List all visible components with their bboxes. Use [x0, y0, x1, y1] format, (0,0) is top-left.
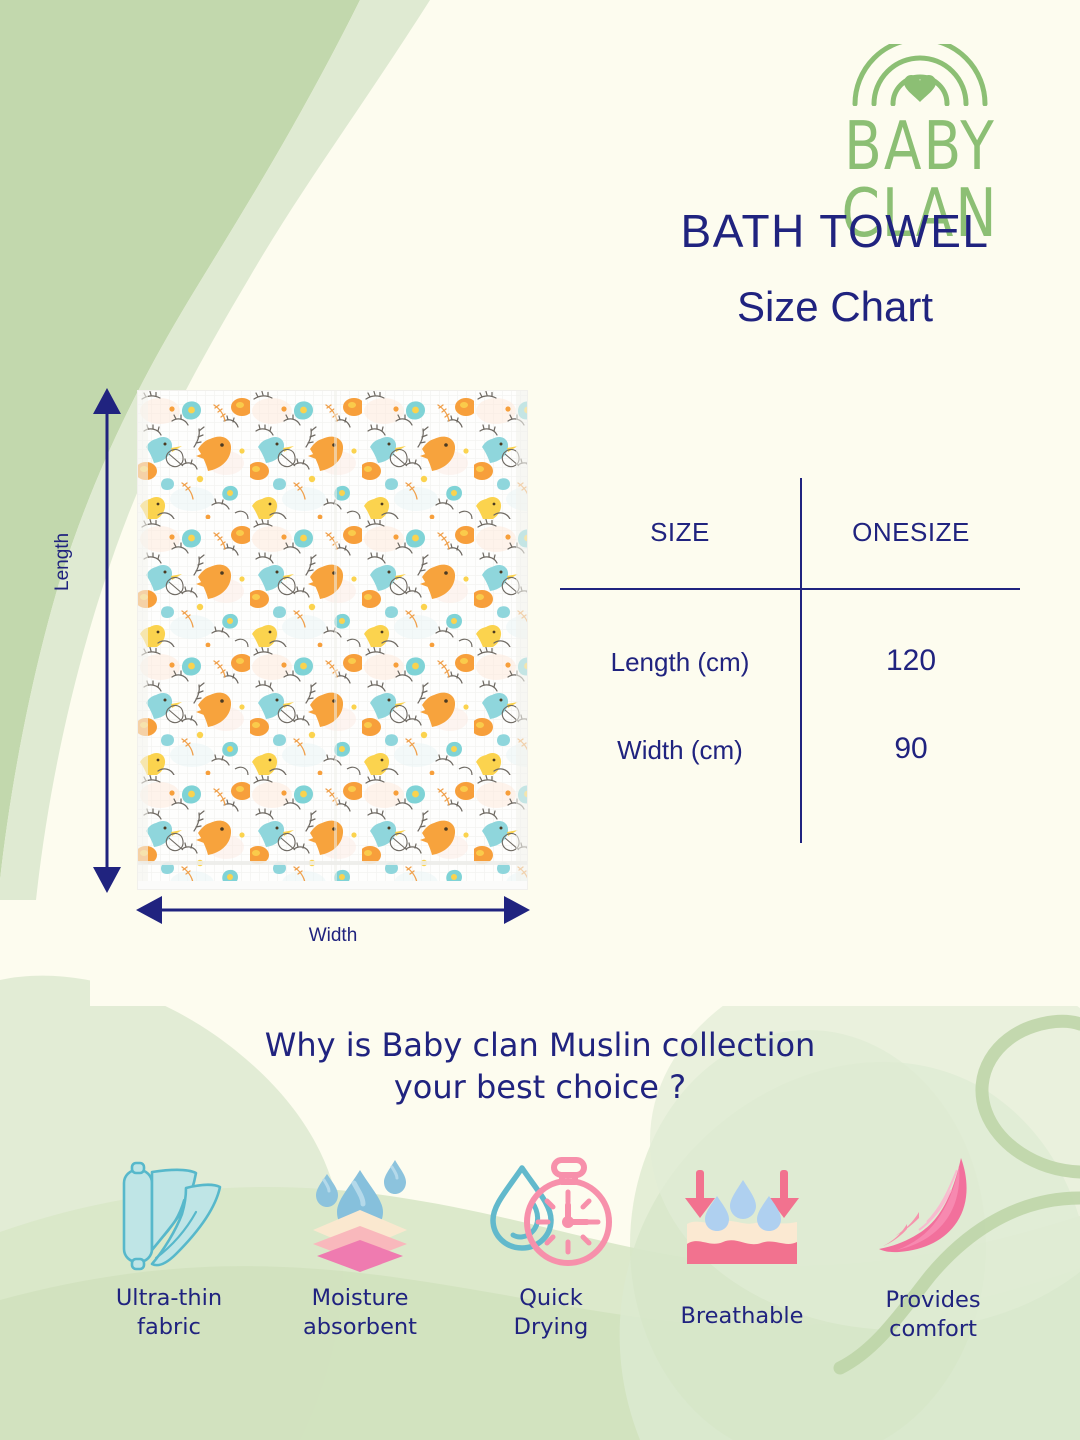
- feature-quick-drying: Quick Drying: [458, 1152, 644, 1342]
- feature-moisture-absorbent: Moisture absorbent: [267, 1152, 453, 1342]
- breathable-fabric-icon: [679, 1152, 805, 1272]
- feature-list: Ultra-thin fabric: [76, 1152, 1026, 1344]
- why-heading-line-2: your best choice ?: [120, 1066, 960, 1108]
- table-row-length-label: Length (cm): [560, 638, 800, 686]
- stopwatch-droplet-icon: [488, 1152, 614, 1272]
- feature-label-breathable: Breathable: [680, 1302, 803, 1331]
- table-header-size: SIZE: [560, 508, 800, 556]
- feature-label-line-1: Ultra-thin: [116, 1284, 222, 1313]
- feature-label-ultra-thin-fabric: Ultra-thin fabric: [116, 1284, 222, 1342]
- feature-label-line-2: absorbent: [303, 1313, 417, 1342]
- feature-label-quick-drying: Quick Drying: [514, 1284, 589, 1342]
- water-drops-layers-icon: [297, 1152, 423, 1272]
- table-header-divider: [560, 588, 1020, 590]
- feature-label-line-1: Quick: [514, 1284, 589, 1313]
- table-header-onesize: ONESIZE: [802, 508, 1020, 556]
- length-label: Length: [52, 533, 74, 591]
- feature-label-line-1: Breathable: [680, 1302, 803, 1331]
- feature-label-moisture-absorbent: Moisture absorbent: [303, 1284, 417, 1342]
- table-row-length-value: 120: [802, 636, 1020, 686]
- feature-label-line-2: comfort: [885, 1315, 980, 1344]
- feature-label-line-2: Drying: [514, 1313, 589, 1342]
- why-section-heading: Why is Baby clan Muslin collection your …: [120, 1024, 960, 1108]
- length-dimension-arrow: [90, 388, 124, 893]
- feature-label-line-1: Provides: [885, 1286, 980, 1315]
- bath-towel-photo: [138, 391, 527, 889]
- feather-icon: [873, 1152, 993, 1272]
- width-label: Width: [136, 925, 530, 947]
- fabric-roll-icon: [110, 1152, 228, 1272]
- brand-logo: BABY CLAN: [770, 44, 1070, 223]
- feature-ultra-thin-fabric: Ultra-thin fabric: [76, 1152, 262, 1342]
- feature-breathable: Breathable: [649, 1152, 835, 1331]
- table-row-width-label: Width (cm): [560, 726, 800, 774]
- page-title: BATH TOWEL: [600, 207, 1070, 255]
- size-chart-table: SIZE ONESIZE Length (cm) 120 Width (cm) …: [560, 478, 1020, 843]
- rainbow-heart-icon: [770, 44, 1070, 111]
- feature-label-line-2: fabric: [116, 1313, 222, 1342]
- feature-label-line-1: Moisture: [303, 1284, 417, 1313]
- feature-provides-comfort: Provides comfort: [840, 1152, 1026, 1344]
- why-heading-line-1: Why is Baby clan Muslin collection: [120, 1024, 960, 1066]
- page-subtitle: Size Chart: [600, 284, 1070, 330]
- width-dimension-arrow: [136, 896, 530, 924]
- table-row-width-value: 90: [802, 724, 1020, 774]
- feature-label-provides-comfort: Provides comfort: [885, 1286, 980, 1344]
